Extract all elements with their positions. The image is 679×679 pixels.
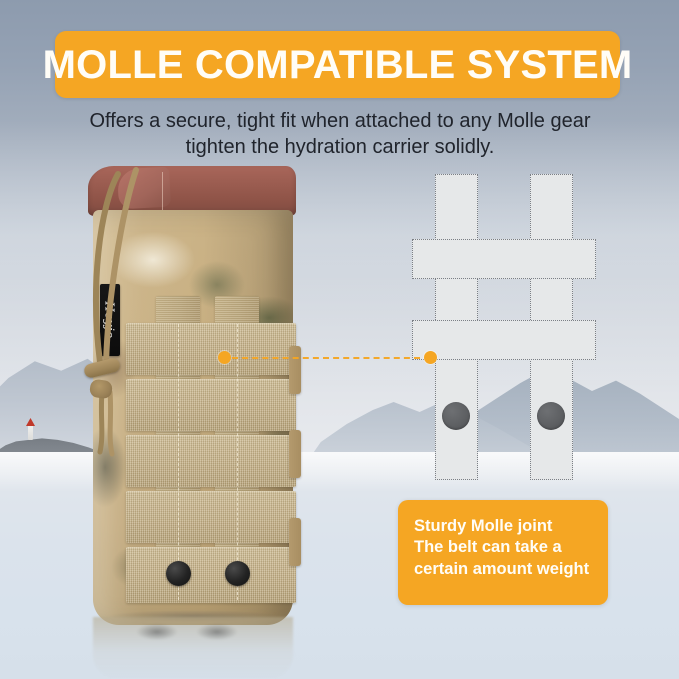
page-subtitle: Offers a secure, tight fit when attached… <box>60 108 620 161</box>
connector-dot-diagram <box>424 351 437 364</box>
diagram-snap-button-2 <box>537 402 565 430</box>
pouch-webbing-row-4 <box>126 491 296 543</box>
product-image: Heyjo <box>60 166 320 641</box>
diagram-horizontal-strap-1 <box>412 239 596 279</box>
callout-box: Sturdy Molle joint The belt can take a c… <box>398 500 608 605</box>
molle-webbing-diagram <box>404 160 604 490</box>
drawstring-cord <box>60 166 320 466</box>
diagram-snap-button-1 <box>442 402 470 430</box>
pouch-snap-button-2 <box>225 561 250 586</box>
callout-text: Sturdy Molle joint The belt can take a c… <box>414 516 599 580</box>
connector-dot-product <box>218 351 231 364</box>
molle-compatible-system-infographic: MOLLE COMPATIBLE SYSTEM Offers a secure,… <box>0 0 679 679</box>
pouch-snap-button-1 <box>166 561 191 586</box>
pouch-webbing-row-5 <box>126 547 296 603</box>
connector-line <box>232 357 420 359</box>
page-title: MOLLE COMPATIBLE SYSTEM <box>43 45 633 85</box>
product-reflection <box>93 617 293 679</box>
diagram-horizontal-strap-2 <box>412 320 596 360</box>
pouch-side-tab-3 <box>289 518 301 566</box>
lighthouse-icon <box>28 424 33 440</box>
title-banner: MOLLE COMPATIBLE SYSTEM <box>55 31 620 98</box>
